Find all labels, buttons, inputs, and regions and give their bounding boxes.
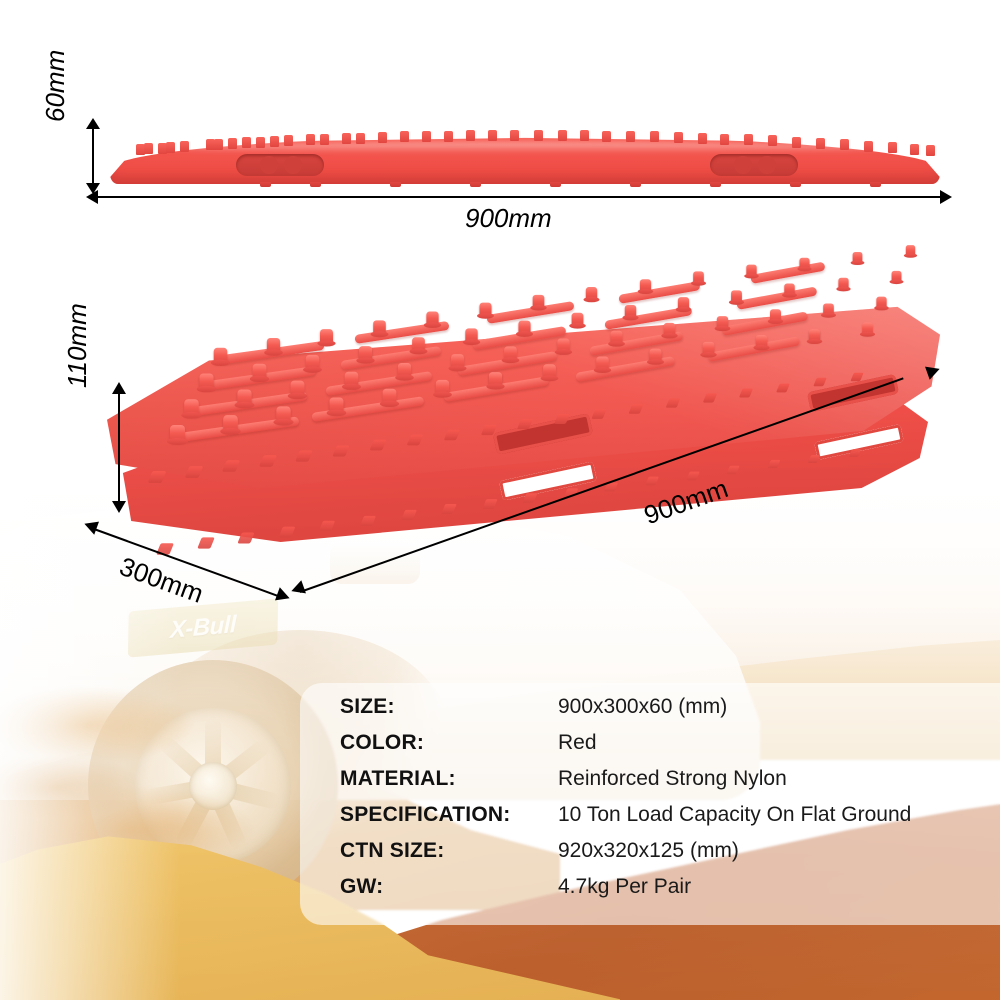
board-side-nub: [674, 132, 683, 143]
board-side-nub: [534, 130, 543, 141]
tread-nub: [465, 328, 477, 342]
tread-nub: [586, 287, 597, 300]
tread-nub: [480, 303, 492, 317]
board-side-nub: [888, 142, 897, 153]
tread-nub: [306, 355, 319, 370]
tread-nub: [823, 303, 834, 315]
tread-nub: [199, 374, 213, 390]
tread-nub: [427, 311, 439, 325]
board-side-nub: [422, 131, 431, 142]
tread-rib: [486, 301, 575, 324]
board-side-nub: [144, 143, 153, 154]
dim-110mm-arrow-down: [112, 501, 126, 513]
tread-nub: [877, 297, 887, 309]
tread-nub: [397, 363, 410, 378]
board-side-nub: [792, 137, 801, 148]
spec-key: SPECIFICATION:: [340, 803, 558, 827]
tread-nub: [838, 277, 848, 289]
handle-cutout-right: [710, 154, 798, 176]
tread-nub: [809, 329, 820, 342]
tread-nub: [596, 356, 608, 370]
spec-row: CTN SIZE:920x320x125 (mm): [340, 839, 990, 875]
tread-nub: [717, 316, 728, 329]
tread-nub: [572, 312, 584, 325]
tread-nub: [664, 323, 676, 336]
tread-nub: [291, 381, 305, 397]
spec-value: 920x320x125 (mm): [558, 839, 739, 863]
dim-label-60mm: 60mm: [40, 50, 71, 122]
board-side-nub: [214, 139, 223, 150]
tread-nub: [625, 305, 637, 318]
side-tooth-lower: [238, 532, 255, 543]
dim-60mm-line: [92, 126, 94, 184]
board-side-underside-nub: [390, 182, 401, 187]
board-side-nub: [320, 134, 329, 145]
board-side-nub: [580, 130, 589, 141]
board-side-nub: [180, 141, 189, 152]
dim-label-110mm: 110mm: [62, 303, 93, 388]
tread-nub: [639, 279, 650, 292]
board-side-nub: [306, 134, 315, 145]
spec-key: GW:: [340, 875, 558, 899]
spec-value: 4.7kg Per Pair: [558, 875, 691, 899]
tread-nub: [344, 372, 358, 387]
tread-nub: [799, 258, 809, 269]
tread-nub: [891, 271, 901, 282]
tread-nub: [678, 298, 689, 311]
spec-key: MATERIAL:: [340, 767, 558, 791]
tread-nub: [557, 338, 569, 352]
tread-nub: [518, 320, 530, 334]
board-side-nub: [228, 138, 237, 149]
tread-nub: [489, 372, 502, 387]
tread-nub: [223, 416, 238, 433]
spec-key: CTN SIZE:: [340, 839, 558, 863]
board-side-nub: [650, 131, 659, 142]
board-side-underside-nub: [470, 182, 481, 187]
board-side-nub: [816, 138, 825, 149]
tread-nub: [504, 346, 517, 360]
board-side-nub: [356, 133, 365, 144]
dim-900mm-top-arrow-right: [940, 190, 952, 204]
board-side-nub: [166, 142, 175, 153]
board-side-nub: [342, 133, 351, 144]
board-side-underside-nub: [310, 182, 321, 187]
board-side-nub: [840, 139, 849, 150]
board-side-nub: [768, 135, 777, 146]
tread-nub: [906, 245, 915, 256]
board-side-nub: [270, 136, 279, 147]
tread-nub: [214, 348, 228, 363]
spec-value: 900x300x60 (mm): [558, 695, 727, 719]
tread-nub: [238, 390, 252, 406]
board-side-nub: [510, 130, 519, 141]
tread-nub: [543, 364, 556, 378]
tread-nub: [852, 252, 862, 263]
tread-nub: [610, 330, 622, 344]
vehicle-badge-label: X-Bull: [170, 611, 237, 645]
board-side-nub: [444, 131, 453, 142]
board-side-underside-nub: [550, 182, 561, 187]
spec-panel: SIZE:900x300x60 (mm)COLOR:RedMATERIAL:Re…: [300, 683, 1000, 925]
tread-nub: [320, 329, 333, 344]
board-side-nub: [744, 134, 753, 145]
board-side-nub: [720, 134, 729, 145]
tread-nub: [185, 399, 200, 415]
tread-nub: [770, 310, 781, 322]
spec-row: COLOR:Red: [340, 731, 990, 767]
dim-900mm-top-line: [96, 196, 944, 198]
board-side-underside-nub: [710, 182, 721, 187]
tread-nub: [373, 320, 386, 334]
side-profile-view: [110, 112, 940, 192]
spec-table: SIZE:900x300x60 (mm)COLOR:RedMATERIAL:Re…: [340, 695, 990, 911]
spec-key: COLOR:: [340, 731, 558, 755]
board-side-nub: [488, 130, 497, 141]
board-side-nub: [910, 144, 919, 155]
board-side-nub: [558, 130, 567, 141]
board-side-nub: [284, 135, 293, 146]
spec-value: Red: [558, 731, 597, 755]
board-side-nub: [242, 137, 251, 148]
spec-row: SIZE:900x300x60 (mm): [340, 695, 990, 731]
board-side-nub: [400, 131, 409, 142]
board-side-underside-nub: [870, 182, 881, 187]
board-side-underside-nub: [630, 182, 641, 187]
spec-row: MATERIAL:Reinforced Strong Nylon: [340, 767, 990, 803]
board-side-nub: [378, 132, 387, 143]
tread-nub: [330, 397, 344, 413]
tread-nub: [252, 364, 266, 380]
tread-nub: [702, 342, 714, 355]
dim-110mm-arrow-up: [112, 382, 126, 394]
board-side-underside-nub: [260, 182, 271, 187]
stacked-pair-perspective-view: [80, 275, 960, 575]
tread-nub: [785, 284, 796, 296]
tread-nub: [756, 335, 767, 348]
tread-nub: [436, 380, 449, 395]
spec-row: GW:4.7kg Per Pair: [340, 875, 990, 911]
dim-60mm-arrow-up: [86, 118, 100, 129]
dim-110mm-line: [118, 392, 120, 502]
tread-nub: [267, 338, 280, 353]
tread-nub: [693, 272, 704, 284]
tread-nub: [533, 294, 545, 307]
tread-nub: [359, 346, 372, 361]
dim-900mm-top-arrow-left: [86, 190, 98, 204]
side-tooth-lower: [197, 538, 215, 549]
spec-row: SPECIFICATION:10 Ton Load Capacity On Fl…: [340, 803, 990, 839]
tread-nub: [746, 265, 756, 277]
dim-label-900mm-length: 900mm: [465, 203, 552, 234]
tread-nub: [862, 322, 873, 334]
board-side-nub: [256, 137, 265, 148]
board-side-nub: [698, 133, 707, 144]
spec-key: SIZE:: [340, 695, 558, 719]
tread-nub: [170, 425, 185, 442]
product-infographic: X-Bull: [0, 0, 1000, 1000]
board-side-nub: [926, 145, 935, 156]
spec-value: 10 Ton Load Capacity On Flat Ground: [558, 803, 911, 827]
tread-nub: [383, 388, 397, 404]
tread-nub: [731, 291, 742, 303]
board-side-nub: [602, 131, 611, 142]
tread-nub: [412, 337, 425, 352]
tread-rib: [750, 262, 825, 284]
board-side-nub: [466, 130, 475, 141]
tread-nub: [649, 349, 661, 363]
handle-cutout-left: [236, 154, 324, 176]
spec-value: Reinforced Strong Nylon: [558, 767, 787, 791]
board-side-underside-nub: [790, 182, 801, 187]
board-side-nub: [626, 131, 635, 142]
tread-nub: [276, 406, 290, 422]
tread-rib: [736, 286, 817, 309]
tread-nub: [451, 354, 464, 369]
board-side-nub: [864, 141, 873, 152]
